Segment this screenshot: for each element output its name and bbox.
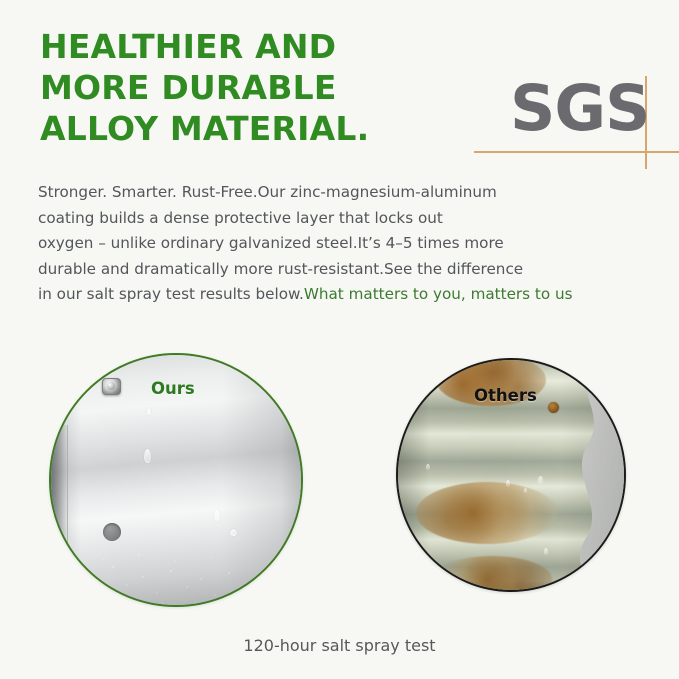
water-droplet-icon: [524, 488, 527, 493]
test-caption: 120-hour salt spray test: [0, 636, 679, 655]
bolt-icon: [102, 378, 121, 395]
water-droplet-field: [51, 515, 301, 605]
rust-speck-icon: [548, 402, 559, 413]
salt-spray-comparison: Ours Others: [0, 0, 679, 679]
others-label: Others: [474, 386, 537, 405]
water-droplet-icon: [144, 449, 151, 463]
water-droplet-icon: [506, 480, 510, 487]
others-sample-photo: Others: [396, 358, 626, 592]
ours-label: Ours: [151, 379, 195, 398]
water-droplet-icon: [426, 464, 430, 470]
water-droplet-icon: [538, 476, 543, 484]
water-droplet-icon: [544, 548, 548, 555]
ours-sample-photo: Ours: [49, 353, 303, 607]
rust-patch-middle: [416, 482, 558, 544]
water-droplet-icon: [147, 408, 151, 415]
ad-page: HEALTHIER AND MORE DURABLE ALLOY MATERIA…: [0, 0, 679, 679]
